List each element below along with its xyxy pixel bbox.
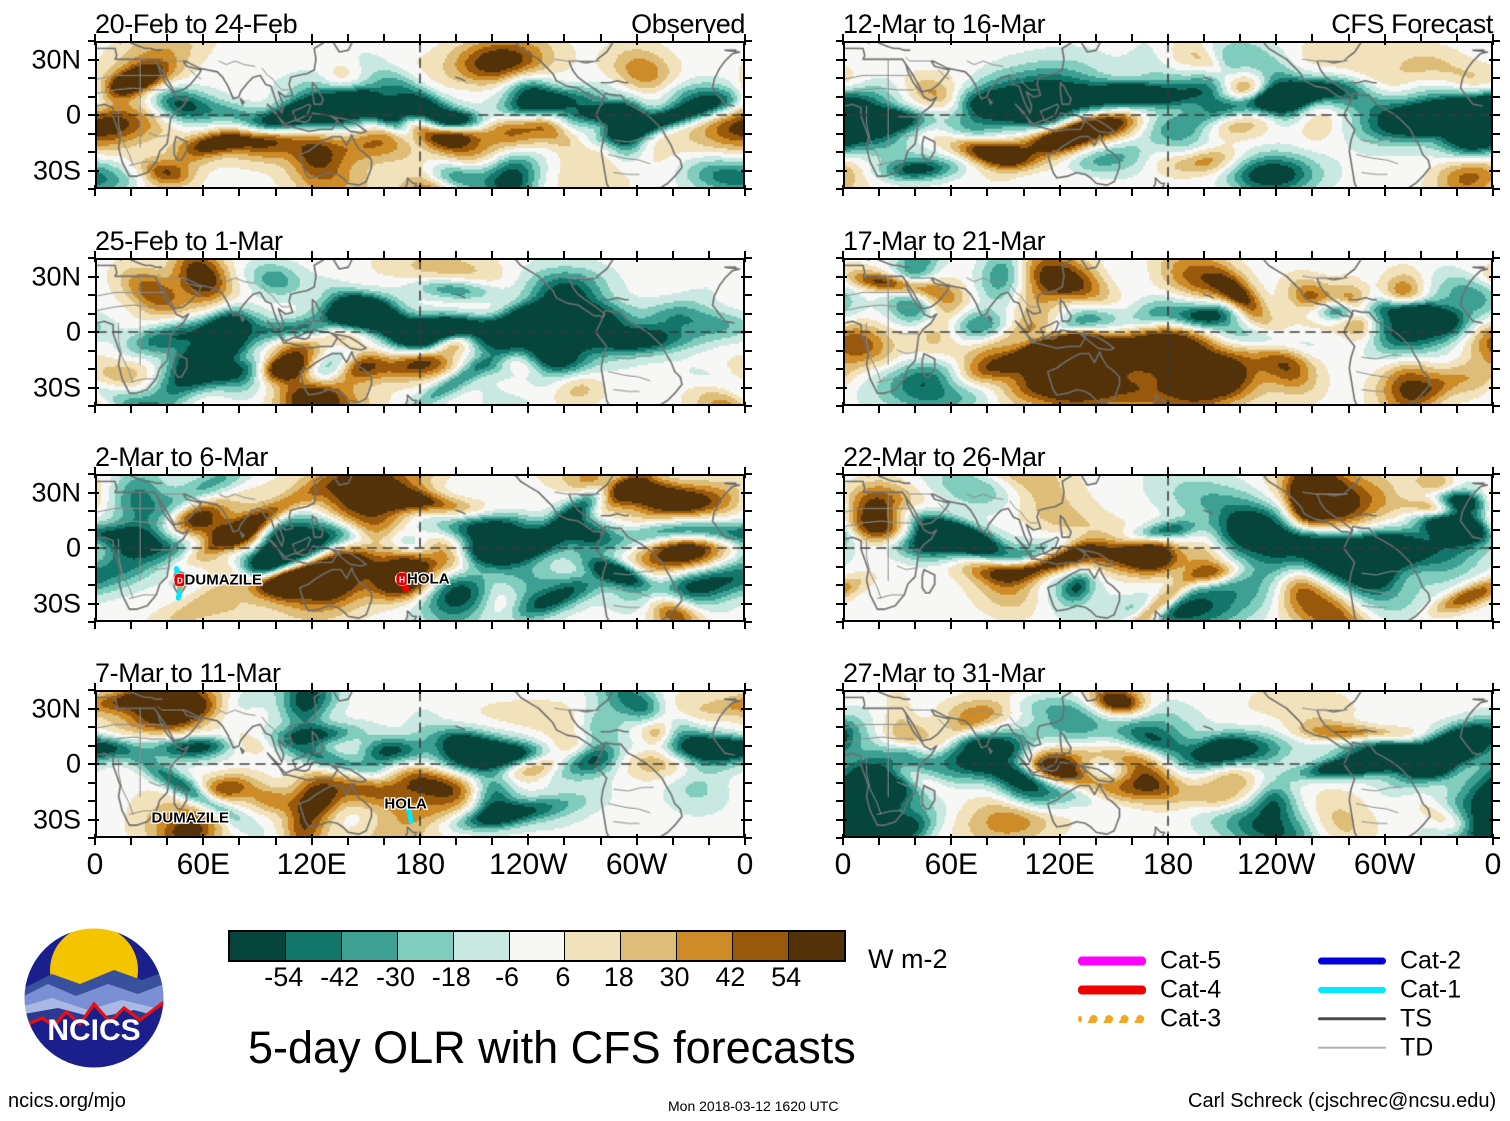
axis-tick — [1420, 34, 1422, 41]
axis-tick — [1456, 251, 1458, 258]
axis-tick — [745, 257, 752, 259]
axis-tick — [950, 467, 952, 478]
axis-tick — [130, 622, 132, 629]
axis-tick — [275, 251, 277, 258]
axis-tick — [672, 251, 674, 258]
axis-tick — [708, 251, 710, 258]
axis-tick — [1493, 257, 1500, 259]
axis-tick — [878, 251, 880, 258]
axis-tick — [88, 40, 95, 42]
axis-tick — [708, 622, 710, 629]
axis-tick — [836, 114, 847, 116]
axis-tick — [950, 834, 952, 845]
axis-tick — [563, 467, 565, 474]
axis-tick — [88, 294, 95, 296]
axis-tick — [1275, 683, 1277, 694]
legend-line-swatch — [1078, 985, 1146, 994]
axis-tick — [455, 683, 457, 690]
axis-tick — [745, 800, 752, 802]
axis-tick — [741, 170, 752, 172]
panel-title: 17-Mar to 21-Mar — [843, 226, 1045, 257]
axis-tick — [347, 683, 349, 690]
axis-tick — [1493, 584, 1500, 586]
y-axis-label: 30N — [31, 477, 81, 508]
axis-tick — [1095, 406, 1097, 413]
x-axis-label: 120E — [1025, 848, 1095, 882]
axis-tick — [986, 406, 988, 413]
axis-tick — [672, 34, 674, 41]
axis-tick — [130, 683, 132, 690]
map-frame — [843, 41, 1493, 189]
axis-tick — [347, 467, 349, 474]
axis-tick — [1167, 834, 1169, 845]
panel-title: 22-Mar to 26-Mar — [843, 442, 1045, 473]
axis-tick — [1239, 467, 1241, 474]
colorbar-tick-label: 6 — [555, 962, 570, 993]
axis-tick — [1311, 838, 1313, 845]
axis-tick — [1348, 683, 1350, 690]
axis-tick — [166, 406, 168, 413]
axis-tick — [741, 763, 752, 765]
axis-tick — [383, 467, 385, 474]
axis-tick — [745, 745, 752, 747]
axis-tick — [600, 683, 602, 690]
x-axis-label: 120W — [1237, 848, 1315, 882]
panel-title: 25-Feb to 1-Mar — [95, 226, 283, 257]
axis-tick — [836, 492, 847, 494]
axis-tick — [202, 251, 204, 262]
axis-tick — [836, 331, 847, 333]
axis-tick — [88, 96, 95, 98]
axis-tick — [1203, 34, 1205, 41]
axis-tick — [836, 800, 843, 802]
axis-tick — [836, 96, 843, 98]
legend-line-swatch — [1318, 987, 1386, 993]
legend-label: Cat-2 — [1400, 946, 1461, 975]
axis-tick — [1493, 800, 1500, 802]
axis-tick — [1239, 251, 1241, 258]
axis-tick — [836, 547, 847, 549]
axis-tick — [1059, 834, 1061, 845]
axis-tick — [1384, 683, 1386, 694]
axis-tick — [347, 406, 349, 413]
axis-tick — [1489, 547, 1500, 549]
axis-tick — [1311, 34, 1313, 41]
axis-tick — [491, 838, 493, 845]
colorbar-units-label: W m-2 — [868, 944, 947, 975]
colorbar-segment — [564, 932, 620, 960]
axis-tick — [527, 34, 529, 45]
legend-item-cat-3: Cat-3 — [1078, 1004, 1258, 1033]
axis-tick — [836, 368, 843, 370]
panel-title: 12-Mar to 16-Mar — [843, 9, 1045, 40]
axis-tick — [1456, 622, 1458, 629]
axis-tick — [491, 189, 493, 196]
axis-tick — [950, 34, 952, 45]
axis-tick — [202, 402, 204, 413]
axis-tick — [527, 683, 529, 694]
axis-tick — [1203, 189, 1205, 196]
axis-tick — [600, 838, 602, 845]
legend-line-swatch — [1318, 957, 1386, 964]
axis-tick — [491, 406, 493, 413]
axis-tick — [1311, 622, 1313, 629]
axis-tick — [914, 838, 916, 845]
axis-tick — [419, 185, 421, 196]
axis-tick — [88, 782, 95, 784]
axis-tick — [88, 59, 99, 61]
axis-tick — [986, 622, 988, 629]
axis-tick — [1384, 618, 1386, 629]
axis-tick — [878, 838, 880, 845]
axis-tick — [88, 473, 95, 475]
axis-tick — [836, 170, 847, 172]
axis-tick — [383, 838, 385, 845]
axis-tick — [1456, 34, 1458, 41]
svg-text:H: H — [399, 575, 405, 584]
axis-tick — [914, 622, 916, 629]
axis-tick — [914, 683, 916, 690]
axis-tick — [88, 492, 99, 494]
axis-tick — [238, 251, 240, 258]
axis-tick — [914, 251, 916, 258]
axis-tick — [1167, 251, 1169, 262]
axis-tick — [878, 683, 880, 690]
olr-anomaly-map — [845, 692, 1491, 836]
y-axis-label: 0 — [66, 533, 81, 564]
colorbar-strip — [228, 930, 846, 962]
storm-name-label: DUMAZILE — [152, 810, 230, 827]
axis-tick — [745, 350, 752, 352]
axis-tick — [275, 34, 277, 41]
axis-tick — [1456, 406, 1458, 413]
x-axis-label: 0 — [737, 848, 754, 882]
axis-tick — [166, 622, 168, 629]
y-axis-label: 0 — [66, 100, 81, 131]
axis-tick — [1489, 59, 1500, 61]
axis-tick — [1023, 838, 1025, 845]
x-axis-label: 60W — [1354, 848, 1416, 882]
axis-tick — [636, 251, 638, 262]
axis-tick — [1489, 387, 1500, 389]
axis-tick — [311, 834, 313, 845]
axis-tick — [1275, 467, 1277, 478]
axis-tick — [1456, 467, 1458, 474]
axis-tick — [88, 170, 99, 172]
axis-tick — [166, 683, 168, 690]
axis-tick — [1275, 34, 1277, 45]
axis-tick — [419, 467, 421, 478]
axis-tick — [347, 34, 349, 41]
axis-tick — [1420, 189, 1422, 196]
timestamp: Mon 2018-03-12 1620 UTC — [668, 1098, 838, 1114]
panel-title: 7-Mar to 11-Mar — [95, 658, 281, 689]
author-credit: Carl Schreck (cjschrec@ncsu.edu) — [1188, 1090, 1496, 1113]
axis-tick — [311, 683, 313, 694]
axis-tick — [491, 622, 493, 629]
axis-tick — [708, 34, 710, 41]
y-axis-label: 30S — [33, 372, 81, 403]
axis-tick — [88, 726, 95, 728]
axis-tick — [745, 294, 752, 296]
axis-tick — [1311, 467, 1313, 474]
colorbar-tick-label: 54 — [771, 962, 801, 993]
y-axis-label: 30S — [33, 588, 81, 619]
axis-tick — [88, 188, 95, 190]
y-axis-label: 30N — [31, 261, 81, 292]
axis-tick — [1167, 618, 1169, 629]
axis-tick — [1348, 34, 1350, 41]
axis-tick — [88, 566, 95, 568]
map-frame — [843, 474, 1493, 622]
axis-tick — [745, 133, 752, 135]
axis-tick — [88, 529, 95, 531]
axis-tick — [311, 251, 313, 262]
axis-tick — [986, 34, 988, 41]
axis-tick — [745, 529, 752, 531]
axis-tick — [1493, 350, 1500, 352]
axis-tick — [94, 402, 96, 413]
axis-tick — [88, 387, 99, 389]
axis-tick — [130, 406, 132, 413]
panel-column-header: Observed — [631, 9, 745, 40]
colorbar-segment — [788, 932, 844, 960]
axis-tick — [383, 622, 385, 629]
axis-tick — [491, 683, 493, 690]
axis-tick — [94, 185, 96, 196]
axis-tick — [745, 689, 752, 691]
axis-tick — [383, 251, 385, 258]
axis-tick — [166, 838, 168, 845]
logo-text: NCICS — [47, 1014, 140, 1047]
site-url[interactable]: ncics.org/mjo — [8, 1090, 126, 1113]
axis-tick — [1492, 834, 1494, 845]
axis-tick — [836, 603, 847, 605]
axis-tick — [455, 251, 457, 258]
axis-tick — [1059, 402, 1061, 413]
axis-tick — [744, 618, 746, 629]
axis-tick — [950, 402, 952, 413]
axis-tick — [1167, 402, 1169, 413]
axis-tick — [745, 77, 752, 79]
axis-tick — [130, 838, 132, 845]
axis-tick — [600, 467, 602, 474]
olr-anomaly-map — [97, 43, 743, 187]
axis-tick — [88, 331, 99, 333]
legend-label: Cat-5 — [1160, 946, 1221, 975]
axis-tick — [166, 251, 168, 258]
olr-anomaly-map — [97, 260, 743, 404]
axis-tick — [455, 467, 457, 474]
map-panel-cfs-2: 17-Mar to 21-Mar — [843, 258, 1493, 406]
axis-tick — [745, 96, 752, 98]
axis-tick — [1348, 838, 1350, 845]
axis-tick — [1311, 406, 1313, 413]
axis-tick — [672, 622, 674, 629]
axis-tick — [275, 838, 277, 845]
axis-tick — [1384, 834, 1386, 845]
axis-tick — [600, 34, 602, 41]
axis-tick — [986, 683, 988, 690]
axis-tick — [202, 467, 204, 478]
y-axis-label: 0 — [66, 317, 81, 348]
y-axis-label: 30S — [33, 804, 81, 835]
axis-tick — [636, 467, 638, 478]
axis-tick — [238, 467, 240, 474]
map-panel-cfs-4: 27-Mar to 31-Mar060E120E180120W60W0 — [843, 690, 1493, 838]
legend-label: TD — [1400, 1033, 1433, 1062]
axis-tick — [1493, 566, 1500, 568]
axis-tick — [238, 622, 240, 629]
axis-tick — [238, 406, 240, 413]
colorbar-segment — [341, 932, 397, 960]
panel-column-header: CFS Forecast — [1331, 9, 1493, 40]
axis-tick — [708, 406, 710, 413]
axis-tick — [1167, 185, 1169, 196]
axis-tick — [842, 185, 844, 196]
map-frame — [843, 690, 1493, 838]
axis-tick — [745, 621, 752, 623]
axis-tick — [275, 683, 277, 690]
axis-tick — [836, 59, 847, 61]
x-axis-label: 180 — [395, 848, 445, 882]
axis-tick — [88, 819, 99, 821]
axis-tick — [1311, 189, 1313, 196]
axis-tick — [491, 34, 493, 41]
legend-line-swatch — [1318, 1046, 1386, 1049]
map-panel-cfs-3: 22-Mar to 26-Mar — [843, 474, 1493, 622]
axis-tick — [741, 708, 752, 710]
axis-tick — [527, 834, 529, 845]
axis-tick — [1493, 188, 1500, 190]
legend-label: Cat-1 — [1400, 975, 1461, 1004]
colorbar-tick-label: -42 — [320, 962, 359, 993]
axis-tick — [741, 387, 752, 389]
x-axis-label: 120E — [277, 848, 347, 882]
axis-tick — [1203, 838, 1205, 845]
axis-tick — [88, 77, 95, 79]
axis-tick — [88, 257, 95, 259]
axis-tick — [1489, 603, 1500, 605]
legend-item-td: TD — [1318, 1033, 1498, 1062]
colorbar-segment — [285, 932, 341, 960]
x-axis-label: 0 — [835, 848, 852, 882]
axis-tick — [1489, 708, 1500, 710]
y-axis-label: 30N — [31, 693, 81, 724]
axis-tick — [455, 622, 457, 629]
axis-tick — [238, 683, 240, 690]
axis-tick — [600, 189, 602, 196]
axis-tick — [836, 294, 843, 296]
axis-tick — [842, 402, 844, 413]
axis-tick — [88, 368, 95, 370]
axis-tick — [1131, 622, 1133, 629]
axis-tick — [88, 745, 95, 747]
axis-tick — [1493, 529, 1500, 531]
colorbar-segment — [676, 932, 732, 960]
axis-tick — [419, 834, 421, 845]
axis-tick — [1492, 402, 1494, 413]
axis-tick — [1489, 170, 1500, 172]
axis-tick — [563, 622, 565, 629]
axis-tick — [202, 834, 204, 845]
axis-tick — [1239, 34, 1241, 41]
axis-tick — [88, 621, 95, 623]
axis-tick — [1023, 467, 1025, 474]
axis-tick — [311, 402, 313, 413]
axis-tick — [166, 189, 168, 196]
axis-tick — [878, 467, 880, 474]
axis-tick — [1493, 473, 1500, 475]
axis-tick — [745, 726, 752, 728]
legend-label: TS — [1400, 1004, 1432, 1033]
panel-title: 2-Mar to 6-Mar — [95, 442, 268, 473]
axis-tick — [419, 34, 421, 45]
axis-tick — [1384, 251, 1386, 262]
axis-tick — [88, 350, 95, 352]
map-frame — [95, 258, 745, 406]
axis-tick — [1059, 683, 1061, 694]
map-panel-obs-4: 7-Mar to 11-MarDUMAZILEHOLA30N030S060E12… — [95, 690, 745, 838]
map-frame — [843, 258, 1493, 406]
axis-tick — [455, 34, 457, 41]
axis-tick — [1167, 34, 1169, 45]
legend-line-swatch — [1318, 1017, 1386, 1021]
axis-tick — [1239, 838, 1241, 845]
axis-tick — [1131, 467, 1133, 474]
colorbar-tick-label: 42 — [715, 962, 745, 993]
axis-tick — [836, 257, 843, 259]
axis-tick — [741, 276, 752, 278]
axis-tick — [986, 838, 988, 845]
axis-tick — [1348, 622, 1350, 629]
axis-tick — [1023, 189, 1025, 196]
axis-tick — [1023, 683, 1025, 690]
axis-tick — [950, 683, 952, 694]
axis-tick — [1384, 34, 1386, 45]
axis-tick — [1384, 402, 1386, 413]
colorbar-tick-label: 18 — [604, 962, 634, 993]
axis-tick — [636, 834, 638, 845]
axis-tick — [745, 473, 752, 475]
axis-tick — [1239, 622, 1241, 629]
y-axis-label: 0 — [66, 749, 81, 780]
axis-tick — [836, 151, 843, 153]
axis-tick — [1131, 189, 1133, 196]
legend-item-cat-5: Cat-5 — [1078, 946, 1258, 975]
axis-tick — [1456, 683, 1458, 690]
axis-tick — [842, 834, 844, 845]
axis-tick — [741, 331, 752, 333]
axis-tick — [1311, 683, 1313, 690]
axis-tick — [600, 251, 602, 258]
axis-tick — [1203, 622, 1205, 629]
colorbar-tick-label: -18 — [432, 962, 471, 993]
colorbar-segment — [732, 932, 788, 960]
axis-tick — [878, 406, 880, 413]
axis-tick — [491, 251, 493, 258]
axis-tick — [708, 189, 710, 196]
axis-tick — [741, 59, 752, 61]
axis-tick — [1275, 402, 1277, 413]
axis-tick — [1095, 34, 1097, 41]
legend-item-ts: TS — [1318, 1004, 1498, 1033]
axis-tick — [836, 188, 843, 190]
axis-tick — [745, 566, 752, 568]
axis-tick — [1493, 313, 1500, 315]
colorbar-tick-label: -54 — [264, 962, 303, 993]
axis-tick — [455, 838, 457, 845]
